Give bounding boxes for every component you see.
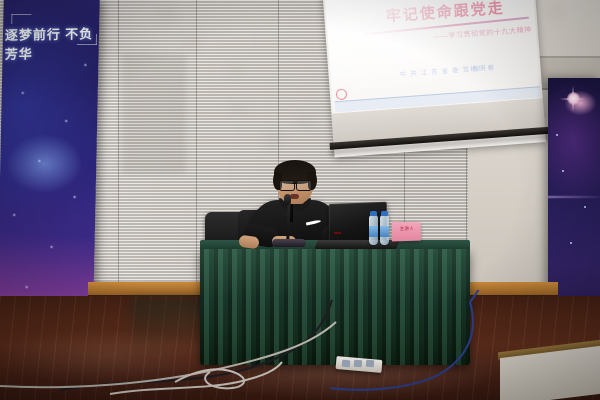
nike-swoosh-icon bbox=[306, 218, 321, 225]
star-dot bbox=[74, 196, 76, 198]
wall-mark bbox=[268, 138, 280, 144]
bottle-cap bbox=[370, 211, 377, 216]
wall-mark bbox=[186, 40, 196, 46]
power-socket bbox=[342, 360, 351, 368]
star-dot bbox=[51, 246, 53, 248]
microphone-base bbox=[272, 239, 306, 247]
screen-glare bbox=[324, 0, 541, 116]
star-dot bbox=[584, 206, 586, 208]
star-dot bbox=[562, 170, 564, 172]
projection-screen: 不忘初心， 牢记使命跟党走 ——学习贯彻党的十九大精神 中共江苏省委党校 杨明春 bbox=[322, 0, 546, 164]
microphone-head bbox=[284, 194, 291, 205]
bottle-cap bbox=[381, 211, 388, 216]
star-dot bbox=[570, 242, 572, 244]
banner-horizon-line bbox=[548, 196, 600, 198]
photo-scene: 不忘初心， 牢记使命跟党走 ——学习贯彻党的十九大精神 中共江苏省委党校 杨明春… bbox=[0, 0, 600, 400]
bracket-decor bbox=[11, 14, 31, 15]
laptop-logo-icon bbox=[334, 232, 341, 234]
power-socket bbox=[366, 360, 375, 368]
wall-seam bbox=[118, 0, 119, 296]
glasses-icon bbox=[279, 180, 295, 191]
name-tent-card-text: 主讲人 bbox=[394, 226, 419, 231]
shirt-placket bbox=[290, 204, 293, 222]
star-dot bbox=[84, 64, 86, 66]
power-socket bbox=[354, 360, 363, 368]
wall-mark bbox=[160, 12, 174, 17]
star-dot bbox=[26, 286, 28, 288]
bracket-decor bbox=[11, 14, 12, 24]
speaker-mouth bbox=[290, 194, 299, 199]
glasses-icon bbox=[296, 180, 312, 191]
wall-mark bbox=[232, 68, 240, 73]
wall-mark bbox=[552, 10, 558, 14]
star-burst-core bbox=[567, 92, 580, 105]
bottle-label bbox=[380, 226, 389, 237]
wall-mark bbox=[300, 118, 309, 123]
star-dot bbox=[22, 92, 24, 94]
star-dot bbox=[556, 134, 558, 136]
screen-surface: 不忘初心， 牢记使命跟党走 ——学习贯彻党的十九大精神 中共江苏省委党校 杨明春 bbox=[324, 0, 541, 116]
bottle-label bbox=[369, 226, 378, 237]
star-dot bbox=[13, 214, 15, 216]
left-banner-text: 逐梦前行 不负芳华 bbox=[5, 23, 99, 63]
wall-mark bbox=[232, 106, 241, 111]
wall-shadow bbox=[122, 54, 186, 174]
floor-cables bbox=[0, 290, 600, 400]
name-tent-card bbox=[392, 222, 421, 242]
star-dot bbox=[65, 120, 67, 122]
star-dot bbox=[38, 160, 40, 162]
glasses-bridge bbox=[292, 183, 297, 184]
wall-seam bbox=[196, 0, 197, 296]
